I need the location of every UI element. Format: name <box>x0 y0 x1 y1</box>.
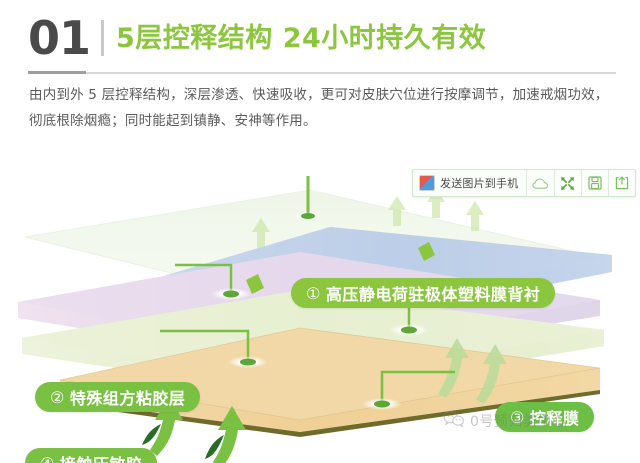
callout-2-label: 特殊组方粘胶层 <box>70 385 186 409</box>
watermark-text: 0号预归类中心 <box>470 411 566 431</box>
expand-icon <box>560 176 575 191</box>
callout-2[interactable]: ② 特殊组方粘胶层 <box>35 382 200 412</box>
infographic-page: 01 5层控释结构 24小时持久有效 由内到外 5 层控释结构，深层渗透、快速吸… <box>0 0 640 463</box>
callout-1-label: 高压静电荷驻极体塑料膜背衬 <box>326 281 541 305</box>
title-divider <box>101 20 104 56</box>
wechat-icon <box>443 410 465 432</box>
save-button[interactable] <box>582 170 609 196</box>
callout-1-marker: ① <box>306 284 321 303</box>
watermark: 0号预归类中心 <box>443 410 566 432</box>
header-rule-light <box>86 72 616 74</box>
share-button[interactable] <box>609 170 635 196</box>
section-number: 01 <box>28 15 90 61</box>
share-icon <box>615 176 629 190</box>
header-section: 01 5层控释结构 24小时持久有效 由内到外 5 层控释结构，深层渗透、快速吸… <box>0 0 640 135</box>
cloud-icon <box>532 177 549 190</box>
app-icon <box>419 175 435 191</box>
save-icon <box>588 176 602 190</box>
header-title-row: 01 5层控释结构 24小时持久有效 <box>28 12 486 64</box>
page-title: 5层控释结构 24小时持久有效 <box>116 25 486 52</box>
callout-2-marker: ② <box>50 388 65 407</box>
callout-4-label: 接触压敏胶 <box>60 451 143 463</box>
header-description: 由内到外 5 层控释结构，深层渗透、快速吸收，更可对皮肤穴位进行按摩调节，加速戒… <box>29 82 617 134</box>
cloud-upload-button[interactable] <box>527 170 554 196</box>
header-rule <box>28 71 616 74</box>
callout-4-marker: ④ <box>40 454 55 463</box>
callout-1[interactable]: ① 高压静电荷驻极体塑料膜背衬 <box>291 278 555 308</box>
send-to-phone-label: 发送图片到手机 <box>440 175 518 191</box>
image-action-toolbar[interactable]: 发送图片到手机 <box>412 169 636 197</box>
header-rule-dark <box>28 71 86 74</box>
callout-4[interactable]: ④ 接触压敏胶 <box>25 448 157 463</box>
expand-button[interactable] <box>555 170 582 196</box>
send-to-phone-button[interactable]: 发送图片到手机 <box>413 170 527 196</box>
